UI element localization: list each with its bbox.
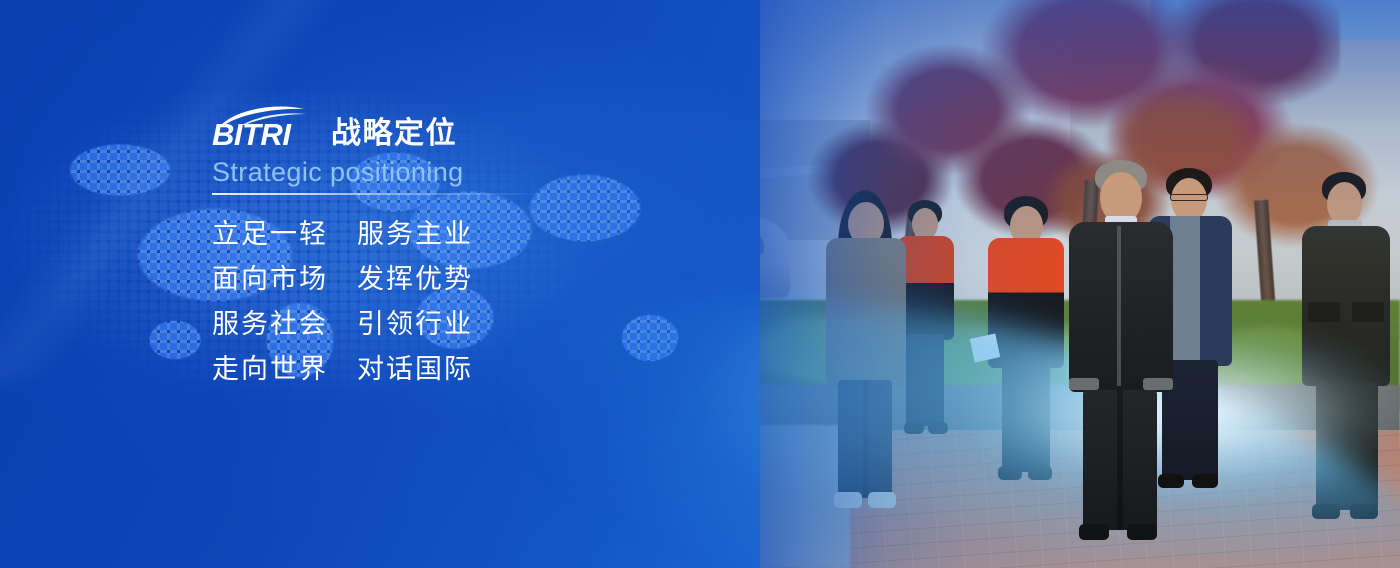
bitri-wordmark: BITRI <box>212 119 290 150</box>
shoe-left <box>834 492 862 508</box>
person-leader-black-jacket <box>1055 160 1185 550</box>
cuff-left <box>1069 378 1099 390</box>
shoe-right <box>1127 524 1157 540</box>
pocket-right <box>1352 302 1384 322</box>
torso <box>826 238 906 388</box>
shoe-left <box>1079 524 1109 540</box>
legs <box>1002 362 1050 472</box>
shoe-right <box>928 422 948 434</box>
slogan-line-1: 立足一轻 服务主业 <box>212 212 632 257</box>
slogan-line-4: 走向世界 对话国际 <box>212 347 632 392</box>
title-divider <box>212 193 542 195</box>
shoe-left <box>998 466 1022 480</box>
torso <box>1069 222 1173 392</box>
torso <box>988 238 1064 368</box>
shoe-right <box>868 492 896 508</box>
page-title-cn: 战略定位 <box>331 119 457 150</box>
person-man-dark-jacket-right <box>1290 172 1400 522</box>
shoe-right <box>1028 466 1052 480</box>
shoe-right <box>1350 504 1378 519</box>
cuff-right <box>1143 378 1173 390</box>
jacket-zipper <box>1117 226 1121 386</box>
legs <box>1083 390 1157 530</box>
title-row: BITRI 战略定位 <box>212 104 632 150</box>
shoe-left <box>1312 504 1340 519</box>
bitri-logo[interactable]: BITRI <box>212 104 318 150</box>
slogan-list: 立足一轻 服务主业 面向市场 发挥优势 服务社会 引领行业 走向世界 对话国际 <box>212 212 632 391</box>
banner-content: BITRI 战略定位 Strategic positioning 立足一轻 服务… <box>212 104 632 392</box>
shoe-right <box>1192 474 1218 488</box>
legs <box>838 380 892 498</box>
hero-banner: BITRI 战略定位 Strategic positioning 立足一轻 服务… <box>0 0 1400 568</box>
slogan-line-2: 面向市场 发挥优势 <box>212 257 632 302</box>
person-woman-grey-jacket <box>810 190 920 520</box>
pocket-left <box>1308 302 1340 322</box>
slogan-line-3: 服务社会 引领行业 <box>212 302 632 347</box>
legs <box>1316 382 1378 510</box>
page-subtitle-en: Strategic positioning <box>212 156 632 188</box>
